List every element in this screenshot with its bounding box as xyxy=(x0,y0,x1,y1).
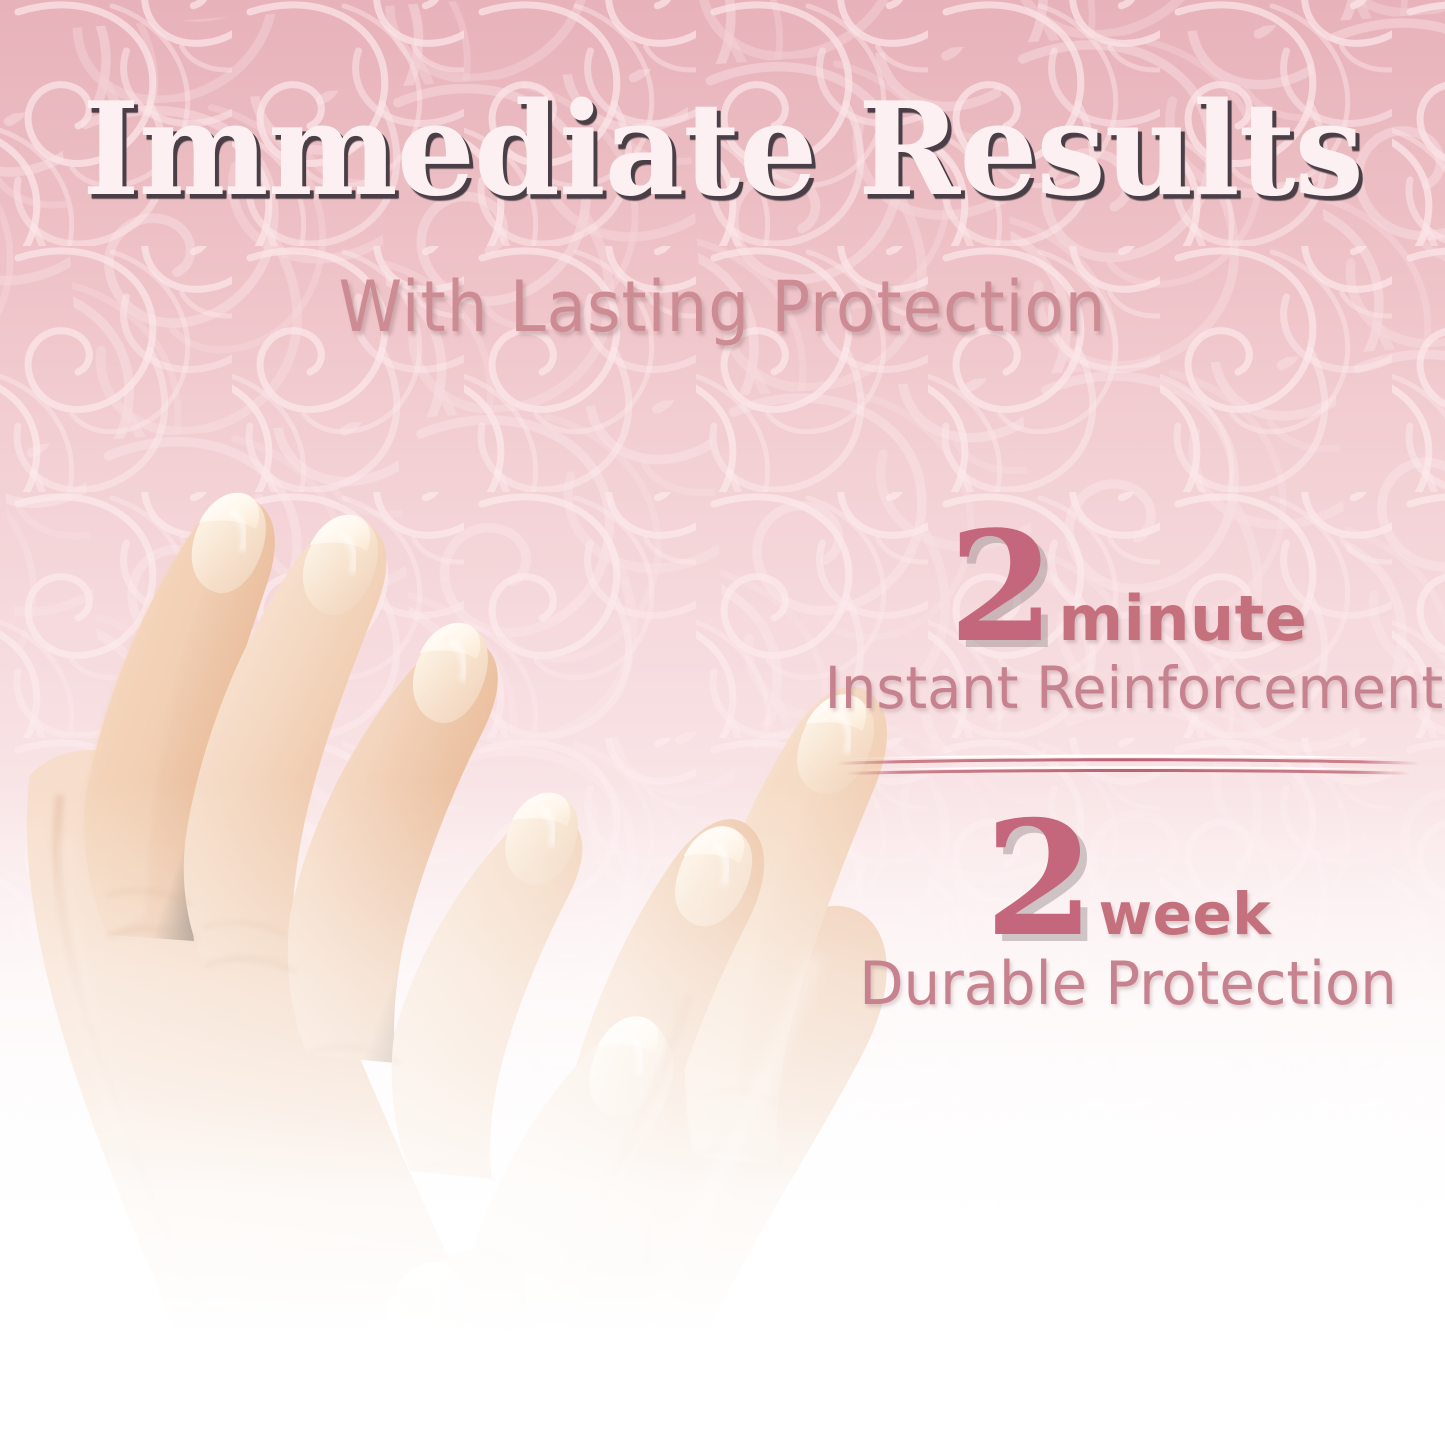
claim-item-durable-protection: 2 week Durable Protection xyxy=(812,810,1444,1015)
claim-description: Instant Reinforcement xyxy=(825,658,1432,718)
claims-list: 2 minute Instant Reinforcement xyxy=(812,520,1444,1015)
claim-description: Durable Protection xyxy=(825,953,1432,1015)
claim-headline-row: 2 week xyxy=(812,810,1444,949)
claim-number: 2 xyxy=(985,810,1093,949)
claim-unit: week xyxy=(1099,885,1272,943)
page-title: Immediate Results xyxy=(29,86,1416,214)
claim-unit: minute xyxy=(1058,588,1307,650)
page-subtitle: With Lasting Protection xyxy=(58,272,1387,342)
claim-headline-row: 2 minute xyxy=(812,520,1444,654)
ornamental-divider xyxy=(828,744,1428,786)
claim-number: 2 xyxy=(949,520,1053,654)
promo-banner: Immediate Results With Lasting Protectio… xyxy=(0,0,1445,1445)
claim-item-instant-reinforcement: 2 minute Instant Reinforcement xyxy=(812,520,1444,718)
